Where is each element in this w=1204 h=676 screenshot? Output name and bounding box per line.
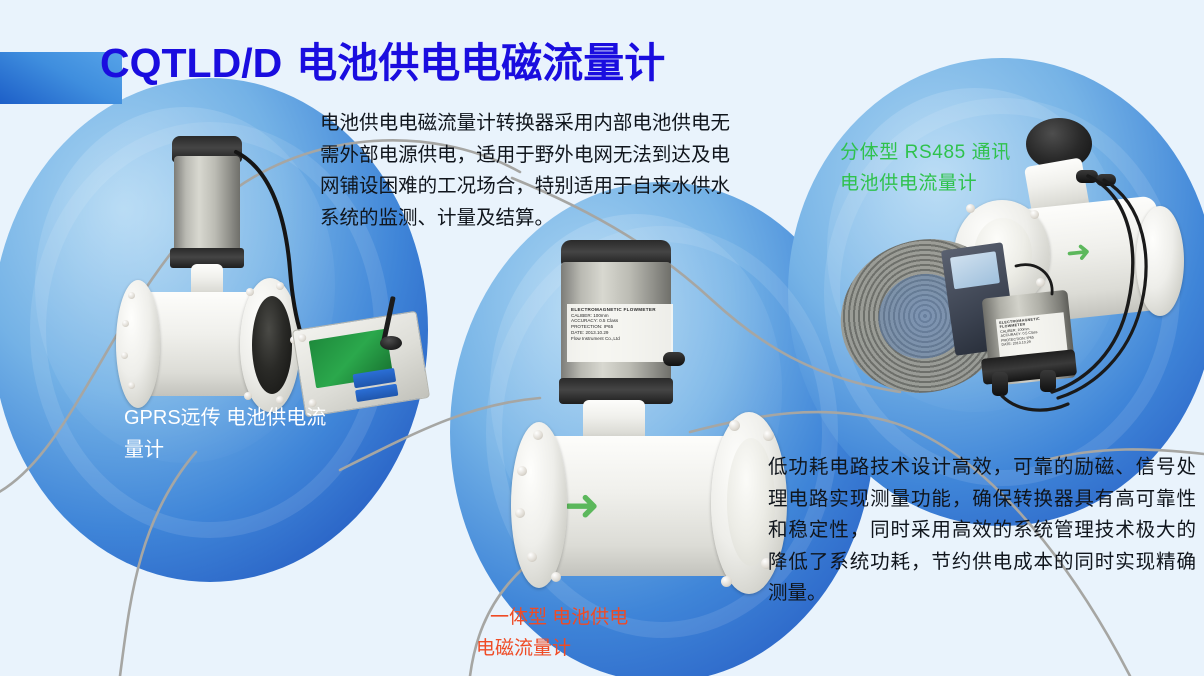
integrated-bolt <box>515 508 525 518</box>
page-title: CQTLD/D电池供电电磁流量计 <box>100 42 665 85</box>
flowmeter-nameplate: ELECTROMAGNETIC FLOWMETER CALIBER: 100mm… <box>567 304 673 362</box>
features-paragraph: 低功耗电路技术设计高效，可靠的励磁、信号处理电路实现测量功能，确保转换器具有高可… <box>768 452 1196 610</box>
integrated-flange-left <box>511 422 567 588</box>
integrated-bolt <box>533 430 543 440</box>
page-title-code: CQTLD/D <box>100 40 282 86</box>
integrated-bolt <box>517 466 527 476</box>
slide-canvas: CQTLD/D电池供电电磁流量计 <box>0 0 1204 676</box>
integrated-bolt <box>729 420 740 431</box>
integrated-bolt <box>763 430 774 441</box>
label-integrated-line1: 一体型 电池供电 <box>490 607 628 628</box>
label-integrated-flowmeter: 一体型 电池供电 电磁流量计 <box>490 572 700 676</box>
label-integrated-line2: 电磁流量计 <box>476 634 700 665</box>
flow-direction-arrow: ➜ <box>563 484 600 528</box>
nameplate-footer: Flow Instrument Co.,Ltd <box>571 336 669 342</box>
intro-paragraph: 电池供电电磁流量计转换器采用内部电池供电无需外部电源供电，适用于野外电网无法到达… <box>320 108 730 234</box>
label-gprs-flowmeter: GPRS远传 电池供电流量计 <box>124 402 339 467</box>
integrated-cable-gland <box>663 352 685 366</box>
integrated-bolt <box>527 552 537 562</box>
gprs-box-bolt <box>298 333 307 342</box>
gprs-antenna-base <box>380 336 402 350</box>
nameplate-heading: ELECTROMAGNETIC FLOWMETER <box>571 307 669 313</box>
label-rs485-flowmeter: 分体型 RS485 通讯 电池供电流量计 <box>840 138 1025 200</box>
connector-line-left-b <box>120 452 196 676</box>
integrated-converter-body: ELECTROMAGNETIC FLOWMETER CALIBER: 100mm… <box>561 262 671 384</box>
page-title-chinese: 电池供电电磁流量计 <box>296 40 665 86</box>
integrated-bolt <box>721 576 732 587</box>
